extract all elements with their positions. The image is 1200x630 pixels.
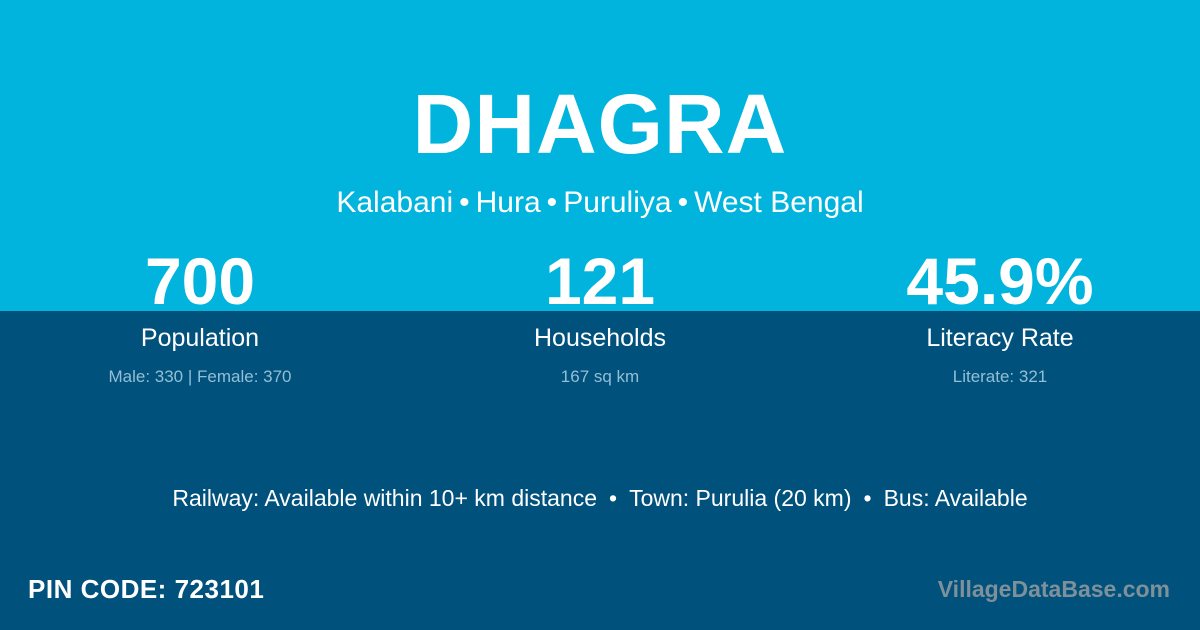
- breadcrumb-separator: •: [541, 186, 564, 219]
- brand-watermark: VillageDataBase.com: [938, 578, 1170, 601]
- header: DHAGRA Kalabani•Hura•Puruliya•West Benga…: [0, 0, 1200, 221]
- stats-row: 700 Population Male: 330 | Female: 370 1…: [0, 248, 1200, 385]
- infra-item-town: Town: Purulia (20 km): [629, 485, 851, 511]
- infra-item-bus: Bus: Available: [884, 485, 1028, 511]
- breadcrumb-separator: •: [453, 186, 476, 219]
- breadcrumb: Kalabani•Hura•Puruliya•West Bengal: [0, 166, 1200, 221]
- infra-separator: •: [852, 485, 884, 511]
- stat-value: 45.9%: [800, 248, 1200, 311]
- stat-value: 121: [400, 248, 800, 311]
- infrastructure-line: Railway: Available within 10+ km distanc…: [0, 485, 1200, 513]
- page-title: DHAGRA: [0, 0, 1200, 166]
- stat-label: Households: [400, 326, 800, 351]
- village-info-card: DHAGRA Kalabani•Hura•Puruliya•West Benga…: [0, 0, 1200, 630]
- stat-households: 121 Households 167 sq km: [400, 248, 800, 385]
- stat-label: Population: [0, 326, 400, 351]
- breadcrumb-part-state: West Bengal: [694, 186, 864, 219]
- breadcrumb-part-village: Kalabani: [336, 186, 453, 219]
- stat-label: Literacy Rate: [800, 326, 1200, 351]
- infra-item-railway: Railway: Available within 10+ km distanc…: [172, 485, 597, 511]
- stat-sublabel: Male: 330 | Female: 370: [0, 368, 400, 385]
- stat-sublabel: Literate: 321: [800, 368, 1200, 385]
- breadcrumb-part-district: Puruliya: [563, 186, 671, 219]
- stat-population: 700 Population Male: 330 | Female: 370: [0, 248, 400, 385]
- stat-value: 700: [0, 248, 400, 311]
- pin-code: PIN CODE: 723101: [28, 576, 264, 602]
- breadcrumb-separator: •: [672, 186, 695, 219]
- stat-sublabel: 167 sq km: [400, 368, 800, 385]
- breadcrumb-part-block: Hura: [476, 186, 541, 219]
- infra-separator: •: [597, 485, 629, 511]
- stat-literacy-rate: 45.9% Literacy Rate Literate: 321: [800, 248, 1200, 385]
- footer: PIN CODE: 723101 VillageDataBase.com: [0, 576, 1200, 630]
